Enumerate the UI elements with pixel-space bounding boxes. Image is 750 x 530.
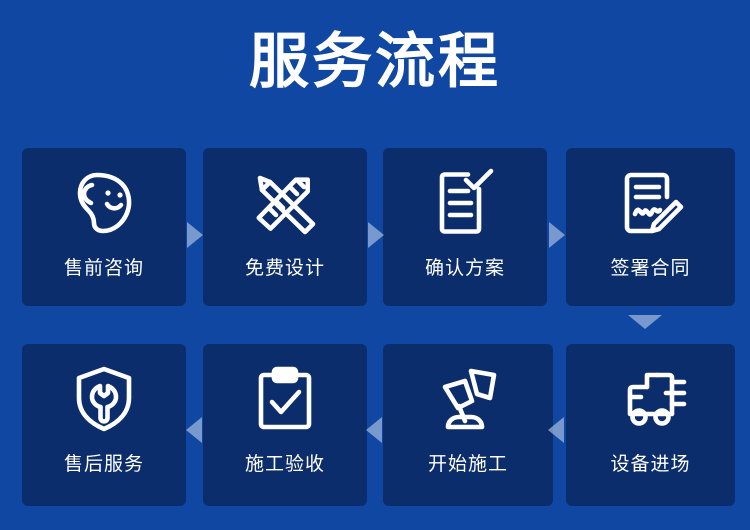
step-card-construction-acceptance[interactable]: 施工验收 (203, 344, 367, 506)
step-card-label: 确认方案 (425, 256, 505, 280)
step-card-label: 设备进场 (610, 452, 690, 476)
step-card-label: 开始施工 (428, 452, 508, 476)
clipboard-check-icon (203, 344, 367, 452)
arrow-7-to-8 (186, 417, 202, 443)
page-title: 服务流程 (0, 26, 750, 98)
step-card-free-design[interactable]: 免费设计 (203, 148, 367, 306)
hammer-icon (383, 344, 553, 452)
step-card-label: 施工验收 (245, 452, 325, 476)
step-card-label: 签署合同 (610, 256, 690, 280)
shield-wrench-icon (22, 344, 186, 452)
step-card-sign-contract[interactable]: 签署合同 (566, 148, 735, 306)
step-card-after-sales-service[interactable]: 售后服务 (22, 344, 186, 506)
step-card-start-construction[interactable]: 开始施工 (383, 344, 553, 506)
step-card-equipment-entry[interactable]: 设备进场 (566, 344, 735, 506)
step-card-confirm-plan[interactable]: 确认方案 (383, 148, 547, 306)
pencil-ruler-icon (203, 148, 367, 256)
step-card-label: 售后服务 (64, 452, 144, 476)
step-card-pre-sales-consultation[interactable]: 售前咨询 (22, 148, 186, 306)
step-card-label: 售前咨询 (64, 256, 144, 280)
service-process-diagram: 服务流程 售前咨询 (0, 0, 750, 530)
arrow-6-to-7 (366, 417, 382, 443)
delivery-truck-icon (566, 344, 735, 452)
arrow-2-to-3 (368, 222, 384, 248)
step-card-label: 免费设计 (245, 256, 325, 280)
document-check-icon (383, 148, 547, 256)
arrow-5-to-6 (548, 417, 564, 443)
arrow-1-to-2 (187, 222, 203, 248)
arrow-4-to-5 (628, 315, 662, 329)
arrow-3-to-4 (549, 222, 565, 248)
phone-smiley-icon (22, 148, 186, 256)
contract-signature-icon (566, 148, 735, 256)
